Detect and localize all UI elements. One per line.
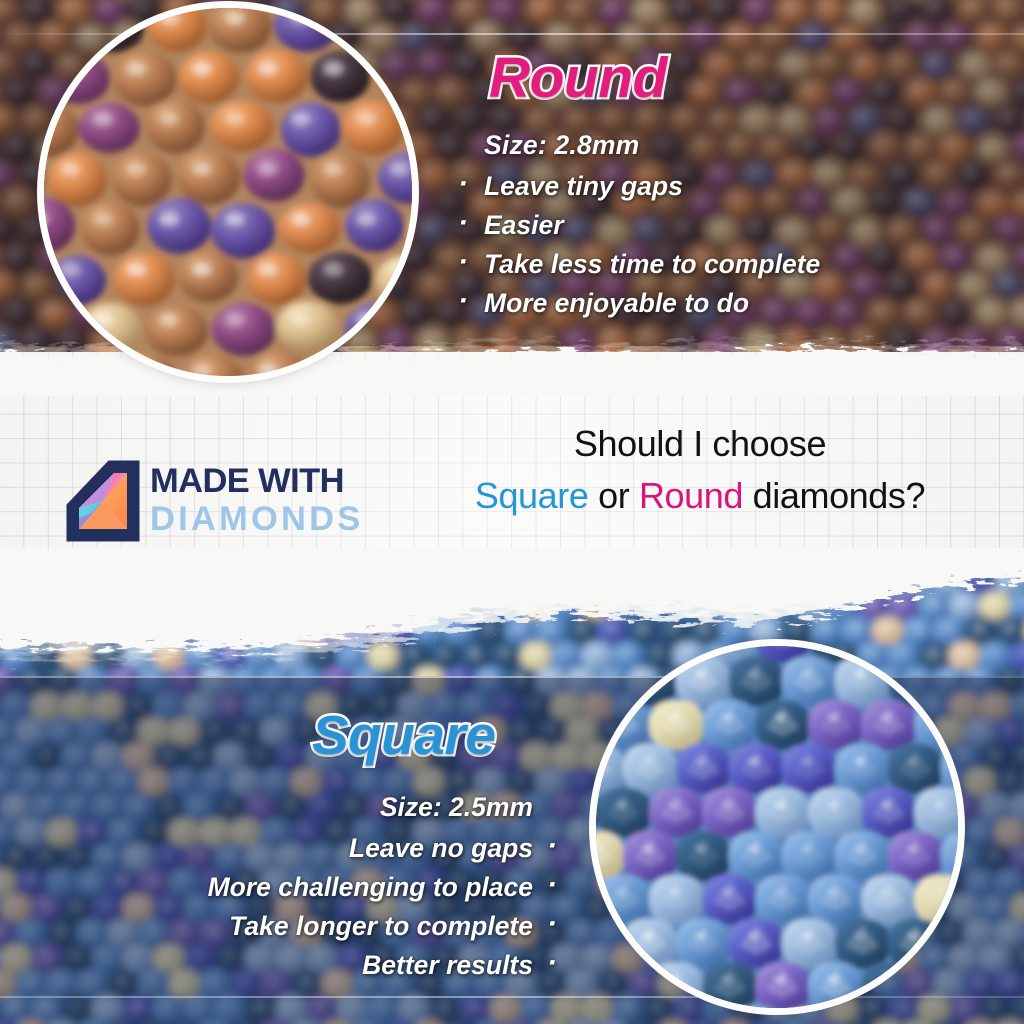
logo-line-1: MADE WITH xyxy=(150,462,363,500)
question-line-1: Should I choose xyxy=(574,423,826,464)
logo-line-2: DIAMONDS xyxy=(150,500,363,538)
square-size-label: Size: 2.5mm xyxy=(60,788,533,827)
square-details: Size: 2.5mm Leave no gaps More challengi… xyxy=(60,788,560,985)
square-drills-magnified-photo xyxy=(596,646,958,1008)
list-item: Leave tiny gaps xyxy=(455,167,975,206)
question-word-square: Square xyxy=(475,475,589,516)
list-item: Leave no gaps xyxy=(60,829,560,868)
list-item: Easier xyxy=(455,206,975,245)
logo-wordmark: MADE WITH DIAMONDS xyxy=(150,462,363,538)
square-title: Square xyxy=(312,703,495,767)
list-item: More challenging to place xyxy=(60,868,560,907)
round-bullet-list: Leave tiny gaps Easier Take less time to… xyxy=(455,167,975,323)
list-item: Take less time to complete xyxy=(455,245,975,284)
question-heading: Should I choose Square or Round diamonds… xyxy=(400,420,1000,520)
round-title: Round xyxy=(489,45,667,111)
square-bullet-list: Leave no gaps More challenging to place … xyxy=(60,829,560,985)
round-drills-magnified-photo xyxy=(44,8,412,376)
question-line-2: Square or Round diamonds? xyxy=(400,472,1000,520)
question-connector: or xyxy=(589,475,639,516)
round-magnified-inset[interactable] xyxy=(44,8,412,376)
round-size-label: Size: 2.8mm xyxy=(484,126,975,165)
question-word-round: Round xyxy=(639,475,743,516)
diamond-gem-logo-mark xyxy=(66,460,140,542)
question-tail: diamonds? xyxy=(743,475,925,516)
list-item: Better results xyxy=(60,946,560,985)
square-magnified-inset[interactable] xyxy=(596,646,958,1008)
list-item: Take longer to complete xyxy=(60,907,560,946)
infographic-canvas: Round Size: 2.8mm Leave tiny gaps Easier… xyxy=(0,0,1024,1024)
list-item: More enjoyable to do xyxy=(455,284,975,323)
brand-logo[interactable]: MADE WITH DIAMONDS xyxy=(66,460,386,546)
square-band-hairline-bottom xyxy=(0,996,1024,998)
round-details: Size: 2.8mm Leave tiny gaps Easier Take … xyxy=(455,126,975,323)
